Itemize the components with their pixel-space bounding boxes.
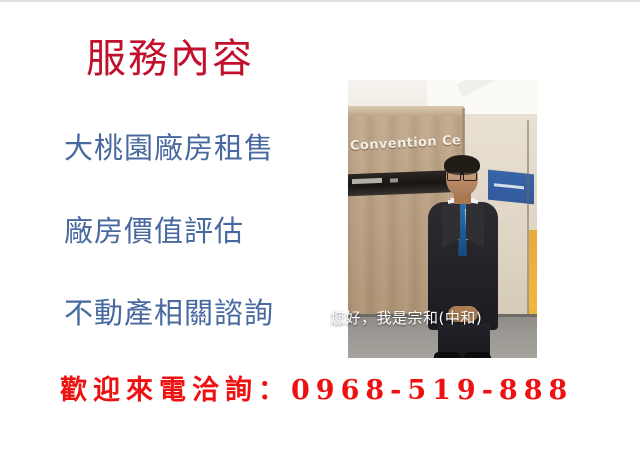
band-highlight-2: [390, 178, 398, 182]
page-title: 服務內容: [86, 35, 254, 83]
shoe-left: [434, 352, 461, 358]
photo-caption: 您好，我是宗和(中和): [330, 308, 550, 328]
shoe-right: [464, 352, 491, 358]
slide-canvas: 服務內容 大桃園廠房租售 廠房價值評估 不動產相關諮詢 Convention C…: [0, 0, 640, 451]
contact-phone-line: 歡迎來電洽詢：0968-519-888: [60, 374, 573, 408]
glasses-icon: [447, 172, 477, 180]
service-item-2: 廠房價值評估: [64, 214, 244, 248]
service-item-1: 大桃園廠房租售: [64, 131, 274, 165]
band-highlight: [352, 178, 382, 184]
service-item-3: 不動產相關諮詢: [64, 296, 274, 330]
person-figure: [420, 158, 506, 358]
